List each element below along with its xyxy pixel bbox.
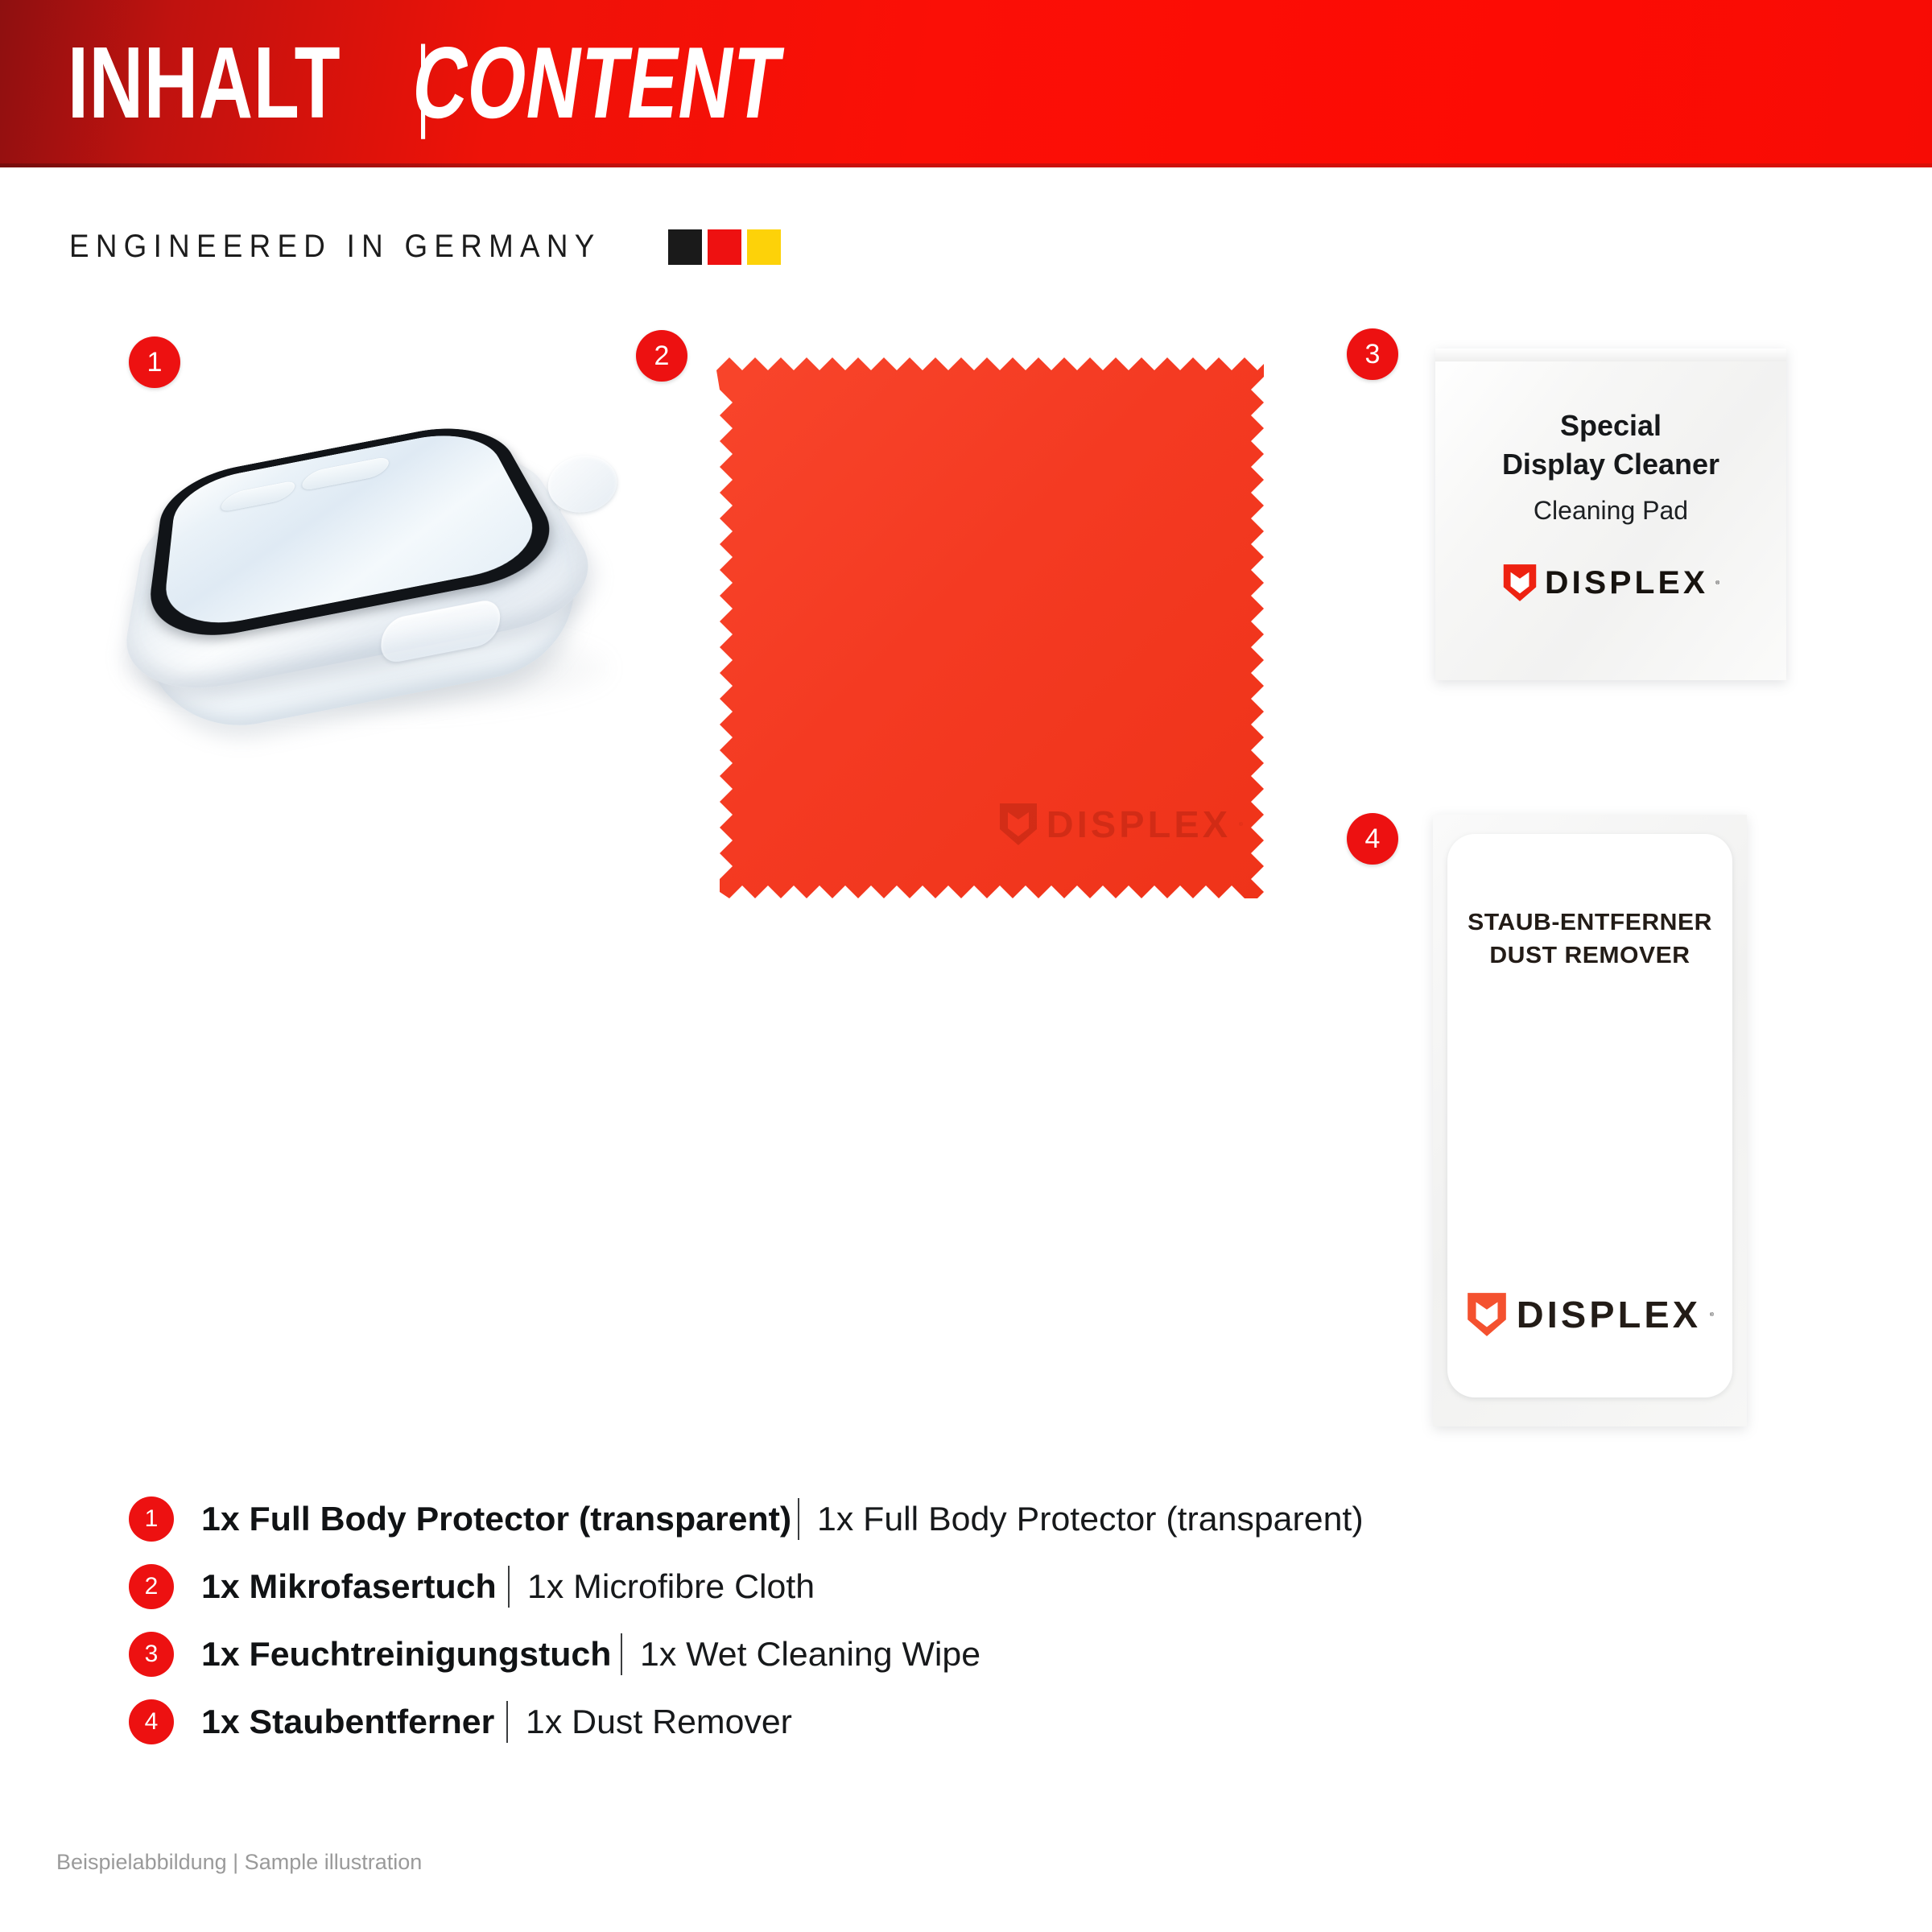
legend-row: 1 1x Full Body Protector (transparent) 1… (129, 1485, 1578, 1553)
product-image-microfibre-cloth: DISPLEX ® (708, 353, 1272, 916)
legend-label-de-3: 1x Feuchtreinigungstuch (201, 1635, 611, 1674)
item-badge-4: 4 (1347, 813, 1398, 865)
header-banner: INHALT|CONTENT (0, 0, 1932, 167)
item-badge-3: 3 (1347, 328, 1398, 380)
displex-shield-icon (1466, 1291, 1508, 1338)
displex-shield-icon (1502, 563, 1538, 603)
legend-badge-3: 3 (129, 1632, 174, 1677)
legend-separator (621, 1633, 622, 1675)
title-english: CONTENT (406, 23, 790, 143)
title-german: INHALT (68, 23, 341, 143)
legend-badge-1: 1 (129, 1496, 174, 1542)
legend-separator (506, 1701, 508, 1743)
flag-stripe-black (668, 229, 702, 265)
product-image-dust-remover: STAUB-ENTFERNER DUST REMOVER DISPLEX ® (1433, 815, 1747, 1426)
dust-remover-sticker: STAUB-ENTFERNER DUST REMOVER DISPLEX ® (1447, 834, 1732, 1397)
dust-displex-logo: DISPLEX ® (1447, 1291, 1732, 1338)
legend-label-de-1: 1x Full Body Protector (transparent) (201, 1500, 791, 1538)
legend-badge-2: 2 (129, 1564, 174, 1609)
legend-label-en-1: 1x Full Body Protector (transparent) (817, 1500, 1364, 1538)
sachet-title-line1: Special (1435, 407, 1786, 445)
legend-separator (508, 1566, 510, 1608)
registered-mark: ® (1239, 822, 1243, 828)
product-image-wet-cleaning-wipe: Special Display Cleaner Cleaning Pad DIS… (1435, 349, 1786, 680)
sachet-title: Special Display Cleaner (1435, 407, 1786, 484)
flag-stripe-red (708, 229, 741, 265)
tagline-row: ENGINEERED IN GERMANY (69, 229, 781, 265)
watch-button-right (298, 456, 393, 492)
page-title: INHALT|CONTENT (68, 23, 910, 143)
registered-mark: ® (1715, 580, 1719, 586)
registered-mark: ® (1710, 1312, 1714, 1318)
legend-label-de-2: 1x Mikrofasertuch (201, 1567, 497, 1606)
footer-disclaimer: Beispielabbildung | Sample illustration (56, 1850, 422, 1875)
dust-title-line1: STAUB-ENTFERNER (1442, 906, 1738, 939)
product-image-full-body-protector (97, 354, 660, 757)
displex-wordmark: DISPLEX (1046, 803, 1231, 846)
tagline-text: ENGINEERED IN GERMANY (69, 229, 601, 265)
item-badge-2: 2 (636, 330, 687, 382)
sachet-subtitle: Cleaning Pad (1435, 496, 1786, 526)
legend-label-de-4: 1x Staubentferner (201, 1703, 494, 1741)
legend-label-en-3: 1x Wet Cleaning Wipe (640, 1635, 980, 1674)
german-flag-icon (668, 229, 781, 265)
contents-legend: 1 1x Full Body Protector (transparent) 1… (129, 1485, 1578, 1756)
legend-badge-4: 4 (129, 1699, 174, 1744)
sachet-title-line2: Display Cleaner (1435, 445, 1786, 484)
legend-label-en-2: 1x Microfibre Cloth (527, 1567, 815, 1606)
sachet-displex-logo: DISPLEX ® (1435, 563, 1786, 603)
cloth-displex-watermark: DISPLEX ® (998, 802, 1243, 847)
flag-stripe-gold (747, 229, 781, 265)
displex-wordmark: DISPLEX (1517, 1293, 1701, 1336)
legend-separator (798, 1498, 799, 1540)
displex-wordmark: DISPLEX (1545, 565, 1708, 601)
legend-row: 3 1x Feuchtreinigungstuch 1x Wet Cleanin… (129, 1620, 1578, 1688)
legend-label-en-4: 1x Dust Remover (526, 1703, 792, 1741)
watch-button-left (216, 480, 299, 514)
legend-row: 4 1x Staubentferner 1x Dust Remover (129, 1688, 1578, 1756)
dust-remover-title: STAUB-ENTFERNER DUST REMOVER (1442, 906, 1738, 972)
displex-shield-icon (998, 802, 1038, 847)
dust-title-line2: DUST REMOVER (1442, 939, 1738, 972)
legend-row: 2 1x Mikrofasertuch 1x Microfibre Cloth (129, 1553, 1578, 1620)
